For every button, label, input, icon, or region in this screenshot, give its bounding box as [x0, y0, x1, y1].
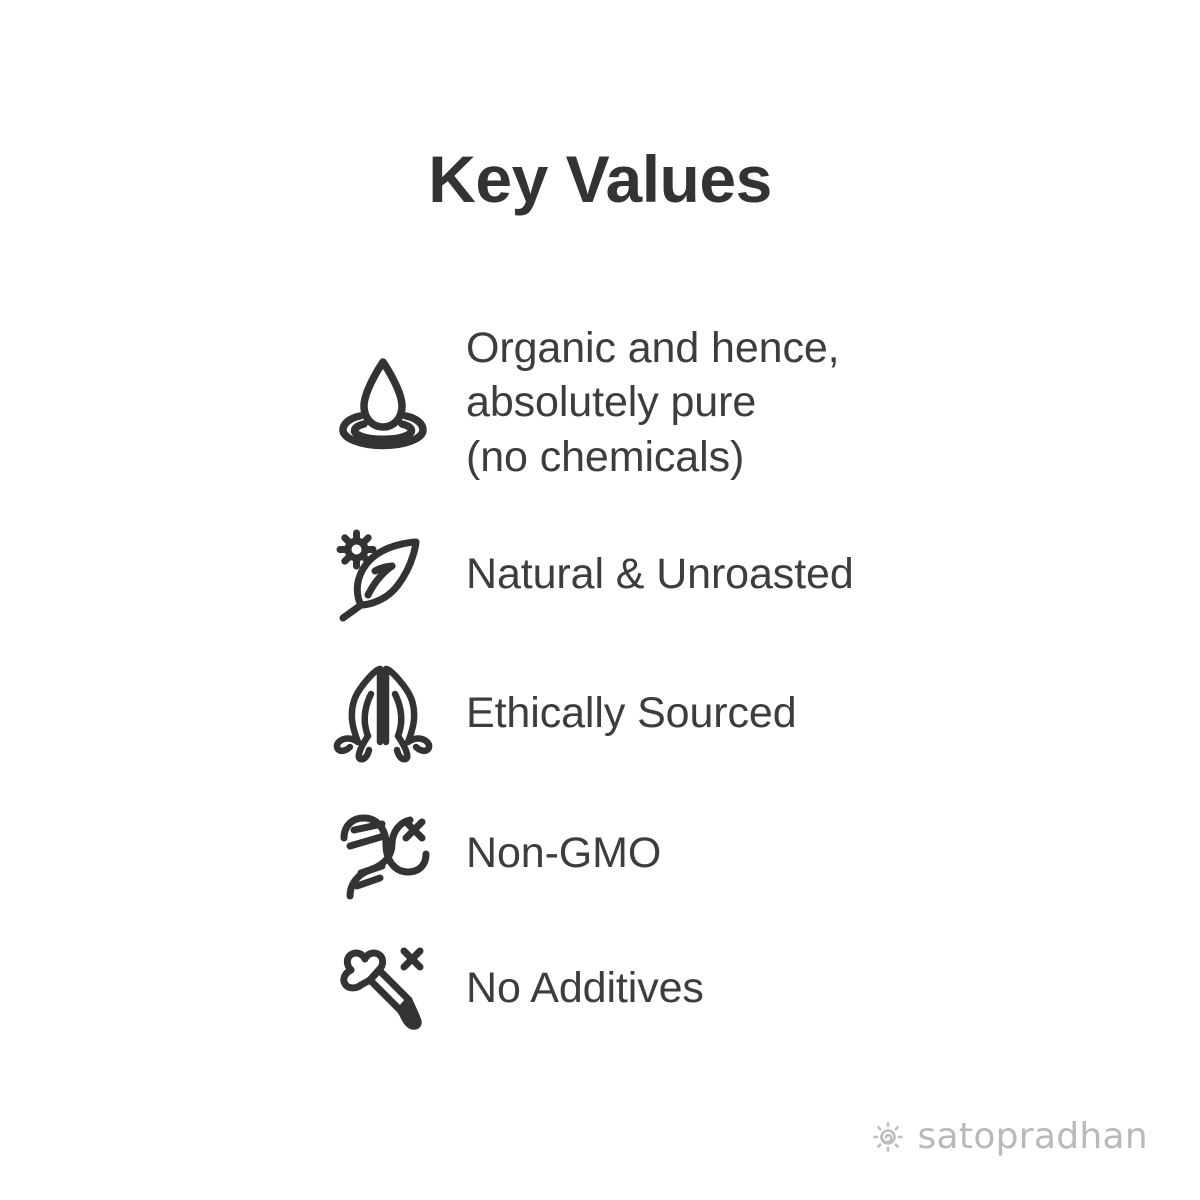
values-list: Organic and hence, absolutely pure (no c… — [300, 300, 1020, 1053]
list-item-label: No Additives — [466, 961, 1020, 1016]
leaf-sun-icon — [300, 521, 466, 627]
label-line: absolutely pure — [466, 375, 1020, 430]
label-line: Natural & Unroasted — [466, 547, 1020, 602]
label-line: No Additives — [466, 961, 1020, 1016]
list-item: Natural & Unroasted — [300, 505, 1020, 643]
list-item-label: Ethically Sourced — [466, 686, 1020, 741]
label-line: Organic and hence, — [466, 321, 1020, 376]
watermark-text: satopradhan — [917, 1119, 1148, 1155]
list-item-label: Non-GMO — [466, 826, 1020, 881]
key-values-card: Key Values Organic and hence, absolutely… — [0, 0, 1200, 1200]
list-item: Non-GMO — [300, 783, 1020, 923]
label-line: (no chemicals) — [466, 430, 1020, 485]
praying-hands-icon — [300, 658, 466, 768]
page-title: Key Values — [0, 146, 1200, 212]
list-item: No Additives — [300, 923, 1020, 1053]
list-item-label: Natural & Unroasted — [466, 547, 1020, 602]
list-item: Ethically Sourced — [300, 643, 1020, 783]
label-line: Ethically Sourced — [466, 686, 1020, 741]
sun-spiral-icon — [867, 1116, 909, 1158]
watermark: satopradhan — [867, 1116, 1148, 1158]
water-drop-ripple-icon — [300, 344, 466, 462]
list-item-label: Organic and hence, absolutely pure (no c… — [466, 321, 1020, 485]
dna-no-icon — [300, 800, 466, 906]
dropper-no-icon — [300, 935, 466, 1041]
list-item: Organic and hence, absolutely pure (no c… — [300, 300, 1020, 505]
label-line: Non-GMO — [466, 826, 1020, 881]
